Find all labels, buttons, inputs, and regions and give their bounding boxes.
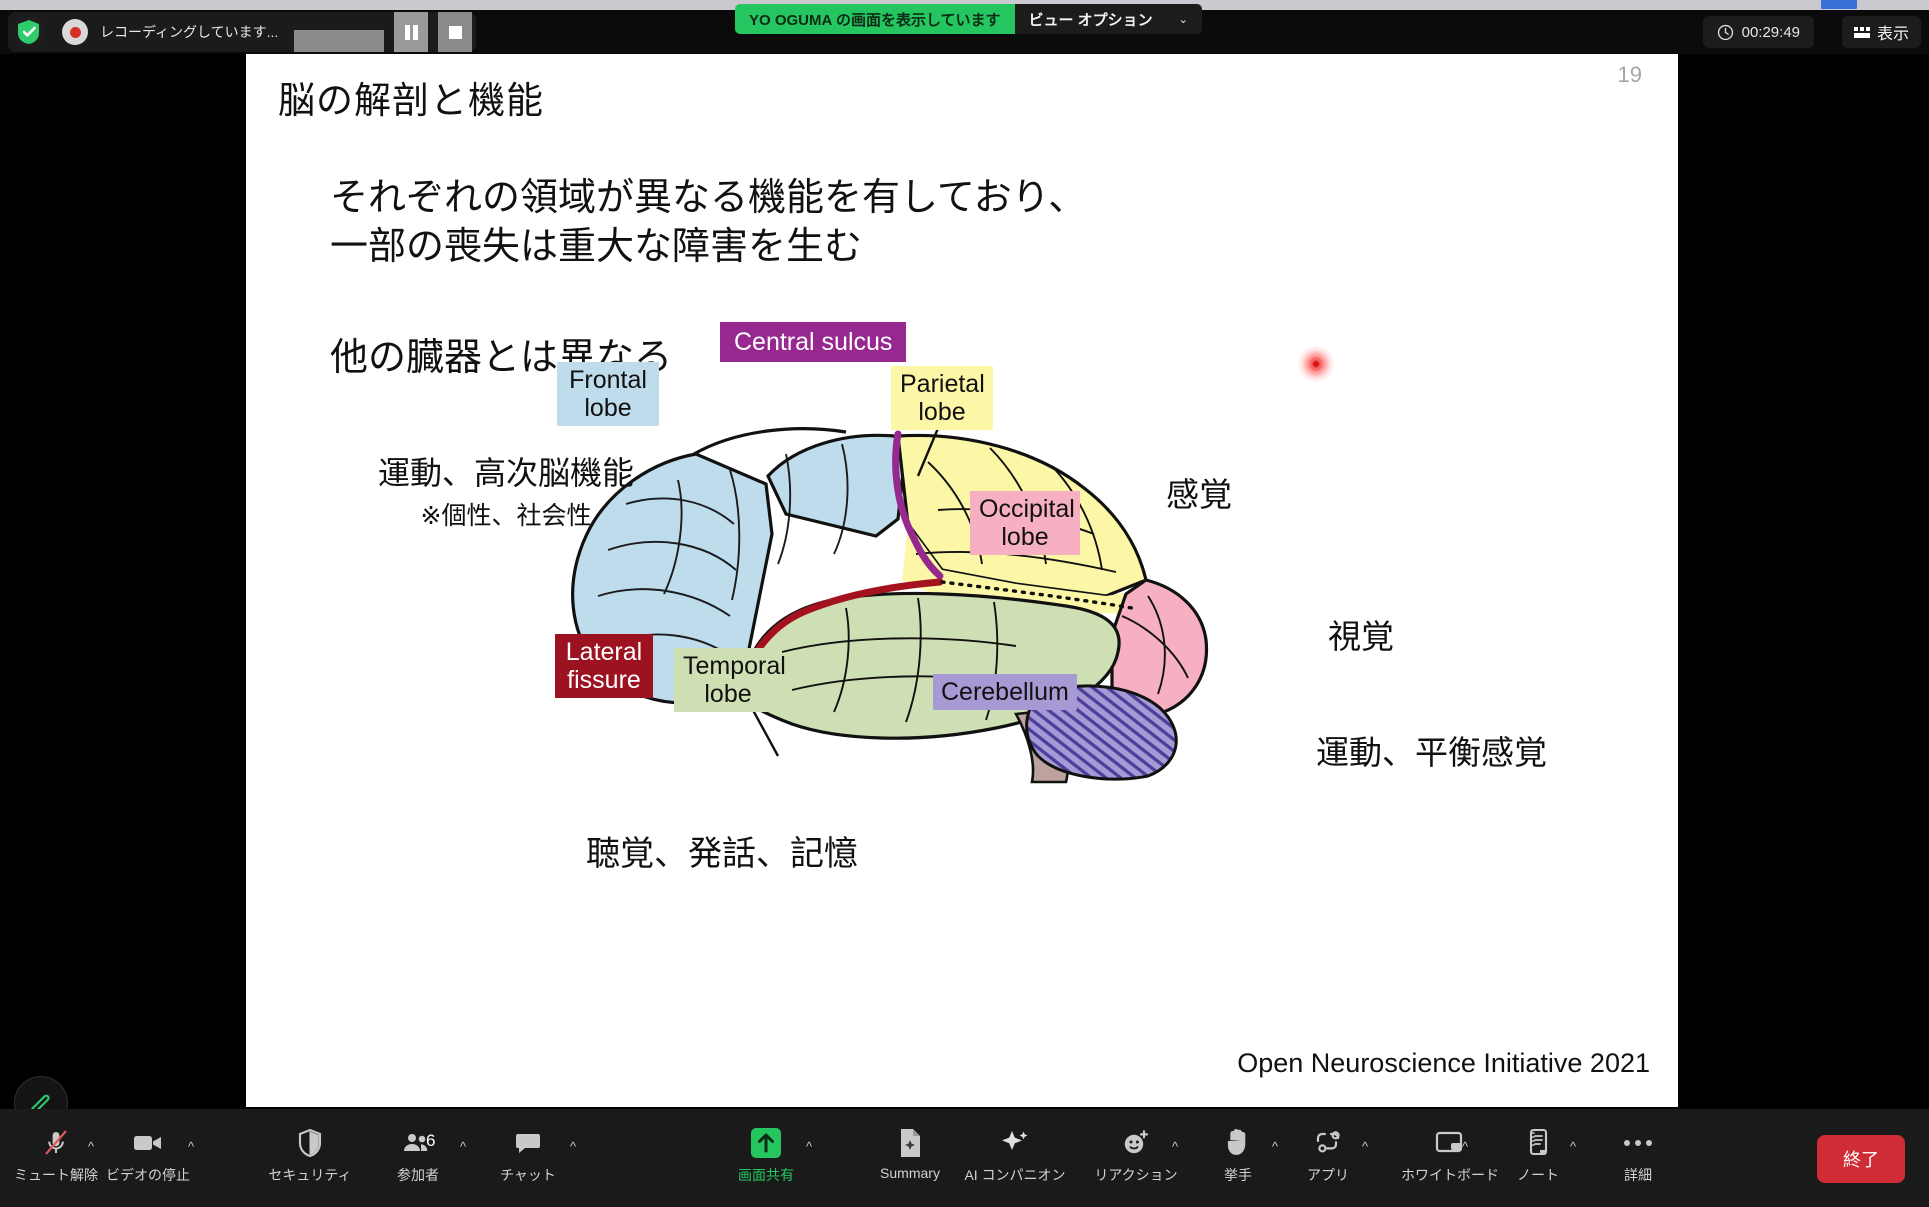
stop-recording-button[interactable] [438, 12, 472, 52]
smiley-plus-icon [1121, 1123, 1151, 1163]
raised-hand-icon [1225, 1123, 1251, 1163]
toolbar-mute-label: ミュート解除 [14, 1165, 98, 1185]
chat-options-caret[interactable]: ^ [570, 1139, 576, 1154]
display-layout-button[interactable]: 表示 [1842, 16, 1921, 48]
notes-options-caret[interactable]: ^ [1570, 1139, 1576, 1154]
toolbar-reactions-label: リアクション [1094, 1165, 1177, 1185]
toolbar-share-screen-label: 画面共有 [738, 1165, 794, 1185]
toolbar-security-label: セキュリティ [268, 1165, 351, 1185]
recording-indicator[interactable]: レコーディングしています... [8, 12, 476, 52]
toolbar-whiteboard-label: ホワイトボード [1401, 1165, 1499, 1185]
slide-body-line-1: それぞれの領域が異なる機能を有しており、 一部の喪失は重大な障害を生む [330, 174, 1086, 271]
toolbar-participants-button[interactable]: 参加者 [370, 1123, 466, 1185]
label-temporal-lobe: Temporal lobe [674, 648, 782, 712]
view-options-button[interactable]: ビュー オプション ⌄ [1015, 4, 1202, 34]
label-cerebellum: Cerebellum [933, 674, 1077, 710]
apps-icon [1313, 1123, 1343, 1163]
toolbar-reactions-button[interactable]: リアクション [1088, 1123, 1184, 1185]
toolbar-ai-companion-label: AI コンパニオン [964, 1165, 1065, 1185]
video-options-caret[interactable]: ^ [188, 1139, 194, 1154]
recording-label: レコーディングしています... [98, 22, 284, 42]
record-dot-icon [62, 19, 88, 45]
share-options-caret[interactable]: ^ [806, 1139, 812, 1154]
toolbar-security-button[interactable]: セキュリティ [262, 1123, 358, 1185]
annotation-frontal-main: 運動、高次脳機能 [306, 448, 706, 494]
annotation-occipital-function: 視覚 [1328, 610, 1394, 658]
raise-hand-options-caret[interactable]: ^ [1272, 1139, 1278, 1154]
annotation-temporal-function: 聴覚、発話、記憶 [586, 826, 858, 875]
toolbar-chat-button[interactable]: チャット [480, 1123, 576, 1185]
toolbar-video-label: ビデオの停止 [106, 1165, 190, 1185]
annotation-cerebellum-function: 運動、平衡感覚 [1316, 726, 1547, 774]
label-parietal-lobe: Parietal lobe [891, 366, 993, 430]
pause-recording-button[interactable] [394, 12, 428, 52]
toolbar-apps-button[interactable]: アプリ [1280, 1123, 1376, 1185]
view-options-label: ビュー オプション [1029, 9, 1153, 30]
chevron-down-icon: ⌄ [1179, 13, 1188, 26]
toolbar-more-label: 詳細 [1624, 1165, 1652, 1185]
toolbar-more-button[interactable]: 詳細 [1590, 1123, 1686, 1185]
apps-options-caret[interactable]: ^ [1362, 1139, 1368, 1154]
mic-muted-icon [41, 1123, 71, 1163]
more-dots-icon [1622, 1123, 1654, 1163]
shield-icon [297, 1123, 323, 1163]
toolbar-raise-hand-label: 挙手 [1224, 1165, 1252, 1185]
annotation-parietal-function: 感覚 [1166, 468, 1232, 516]
label-occipital-lobe: Occipital lobe [970, 491, 1080, 555]
label-central-sulcus: Central sulcus [720, 322, 906, 362]
toolbar-raise-hand-button[interactable]: 挙手 [1190, 1123, 1286, 1185]
label-frontal-lobe: Frontal lobe [557, 362, 659, 426]
recording-progress [294, 30, 384, 52]
participants-options-caret[interactable]: ^ [460, 1139, 466, 1154]
slide-footer-credit: Open Neuroscience Initiative 2021 [1237, 1048, 1650, 1079]
slide-page-number: 19 [1618, 62, 1642, 88]
annotation-frontal-sub: ※個性、社会性 [306, 496, 706, 532]
toolbar-video-button[interactable]: ビデオの停止 [100, 1123, 196, 1185]
shared-slide: 19 脳の解剖と機能 それぞれの領域が異なる機能を有しており、 一部の喪失は重大… [246, 54, 1678, 1107]
share-banner-label: YO OGUMA の画面を表示しています [735, 4, 1015, 34]
document-sparkle-icon [897, 1123, 923, 1163]
end-meeting-button[interactable]: 終了 [1817, 1135, 1905, 1183]
video-camera-icon [131, 1123, 165, 1163]
shield-check-icon [14, 17, 44, 47]
notes-icon [1526, 1123, 1550, 1163]
toolbar-chat-label: チャット [500, 1165, 556, 1185]
toolbar-participants-label: 参加者 [397, 1165, 439, 1185]
toolbar-mute-button[interactable]: ミュート解除 [8, 1123, 104, 1185]
meeting-timer[interactable]: 00:29:49 [1703, 16, 1814, 48]
timer-value: 00:29:49 [1742, 24, 1800, 41]
toolbar-summary-label: Summary [880, 1165, 940, 1181]
brain-anatomy-diagram [546, 384, 1326, 784]
toolbar-share-screen-button[interactable]: 画面共有 [718, 1123, 814, 1185]
pause-icon [405, 25, 418, 40]
toolbar-summary-button[interactable]: Summary [862, 1123, 958, 1181]
desktop-taskbar-accent [1821, 0, 1857, 9]
screen-share-banner: YO OGUMA の画面を表示しています ビュー オプション ⌄ [735, 4, 1202, 34]
slide-title: 脳の解剖と機能 [278, 70, 544, 124]
share-screen-up-arrow-icon [749, 1123, 783, 1163]
toolbar-ai-companion-button[interactable]: AI コンパニオン [950, 1123, 1080, 1185]
laser-pointer-cursor [1298, 346, 1334, 382]
stop-icon [449, 26, 462, 39]
clock-icon [1717, 24, 1734, 41]
reactions-options-caret[interactable]: ^ [1172, 1139, 1178, 1154]
zoom-bottom-toolbar: ミュート解除 ^ ビデオの停止 ^ セキュリティ 参加者 6 ^ チャット ^ … [0, 1109, 1929, 1207]
chat-bubble-icon [514, 1123, 542, 1163]
toolbar-notes-button[interactable]: ノート [1490, 1123, 1586, 1185]
toolbar-apps-label: アプリ [1307, 1165, 1349, 1185]
whiteboard-options-caret[interactable]: ^ [1462, 1139, 1468, 1154]
grid-display-icon [1854, 27, 1870, 38]
participants-count-badge: 6 [426, 1131, 435, 1151]
display-label: 表示 [1877, 20, 1909, 44]
label-lateral-fissure: Lateral fissure [555, 634, 653, 698]
mute-options-caret[interactable]: ^ [88, 1139, 94, 1154]
sparkle-icon [998, 1123, 1032, 1163]
annotation-frontal-function: 運動、高次脳機能 ※個性、社会性 [306, 448, 706, 532]
toolbar-notes-label: ノート [1517, 1165, 1559, 1185]
